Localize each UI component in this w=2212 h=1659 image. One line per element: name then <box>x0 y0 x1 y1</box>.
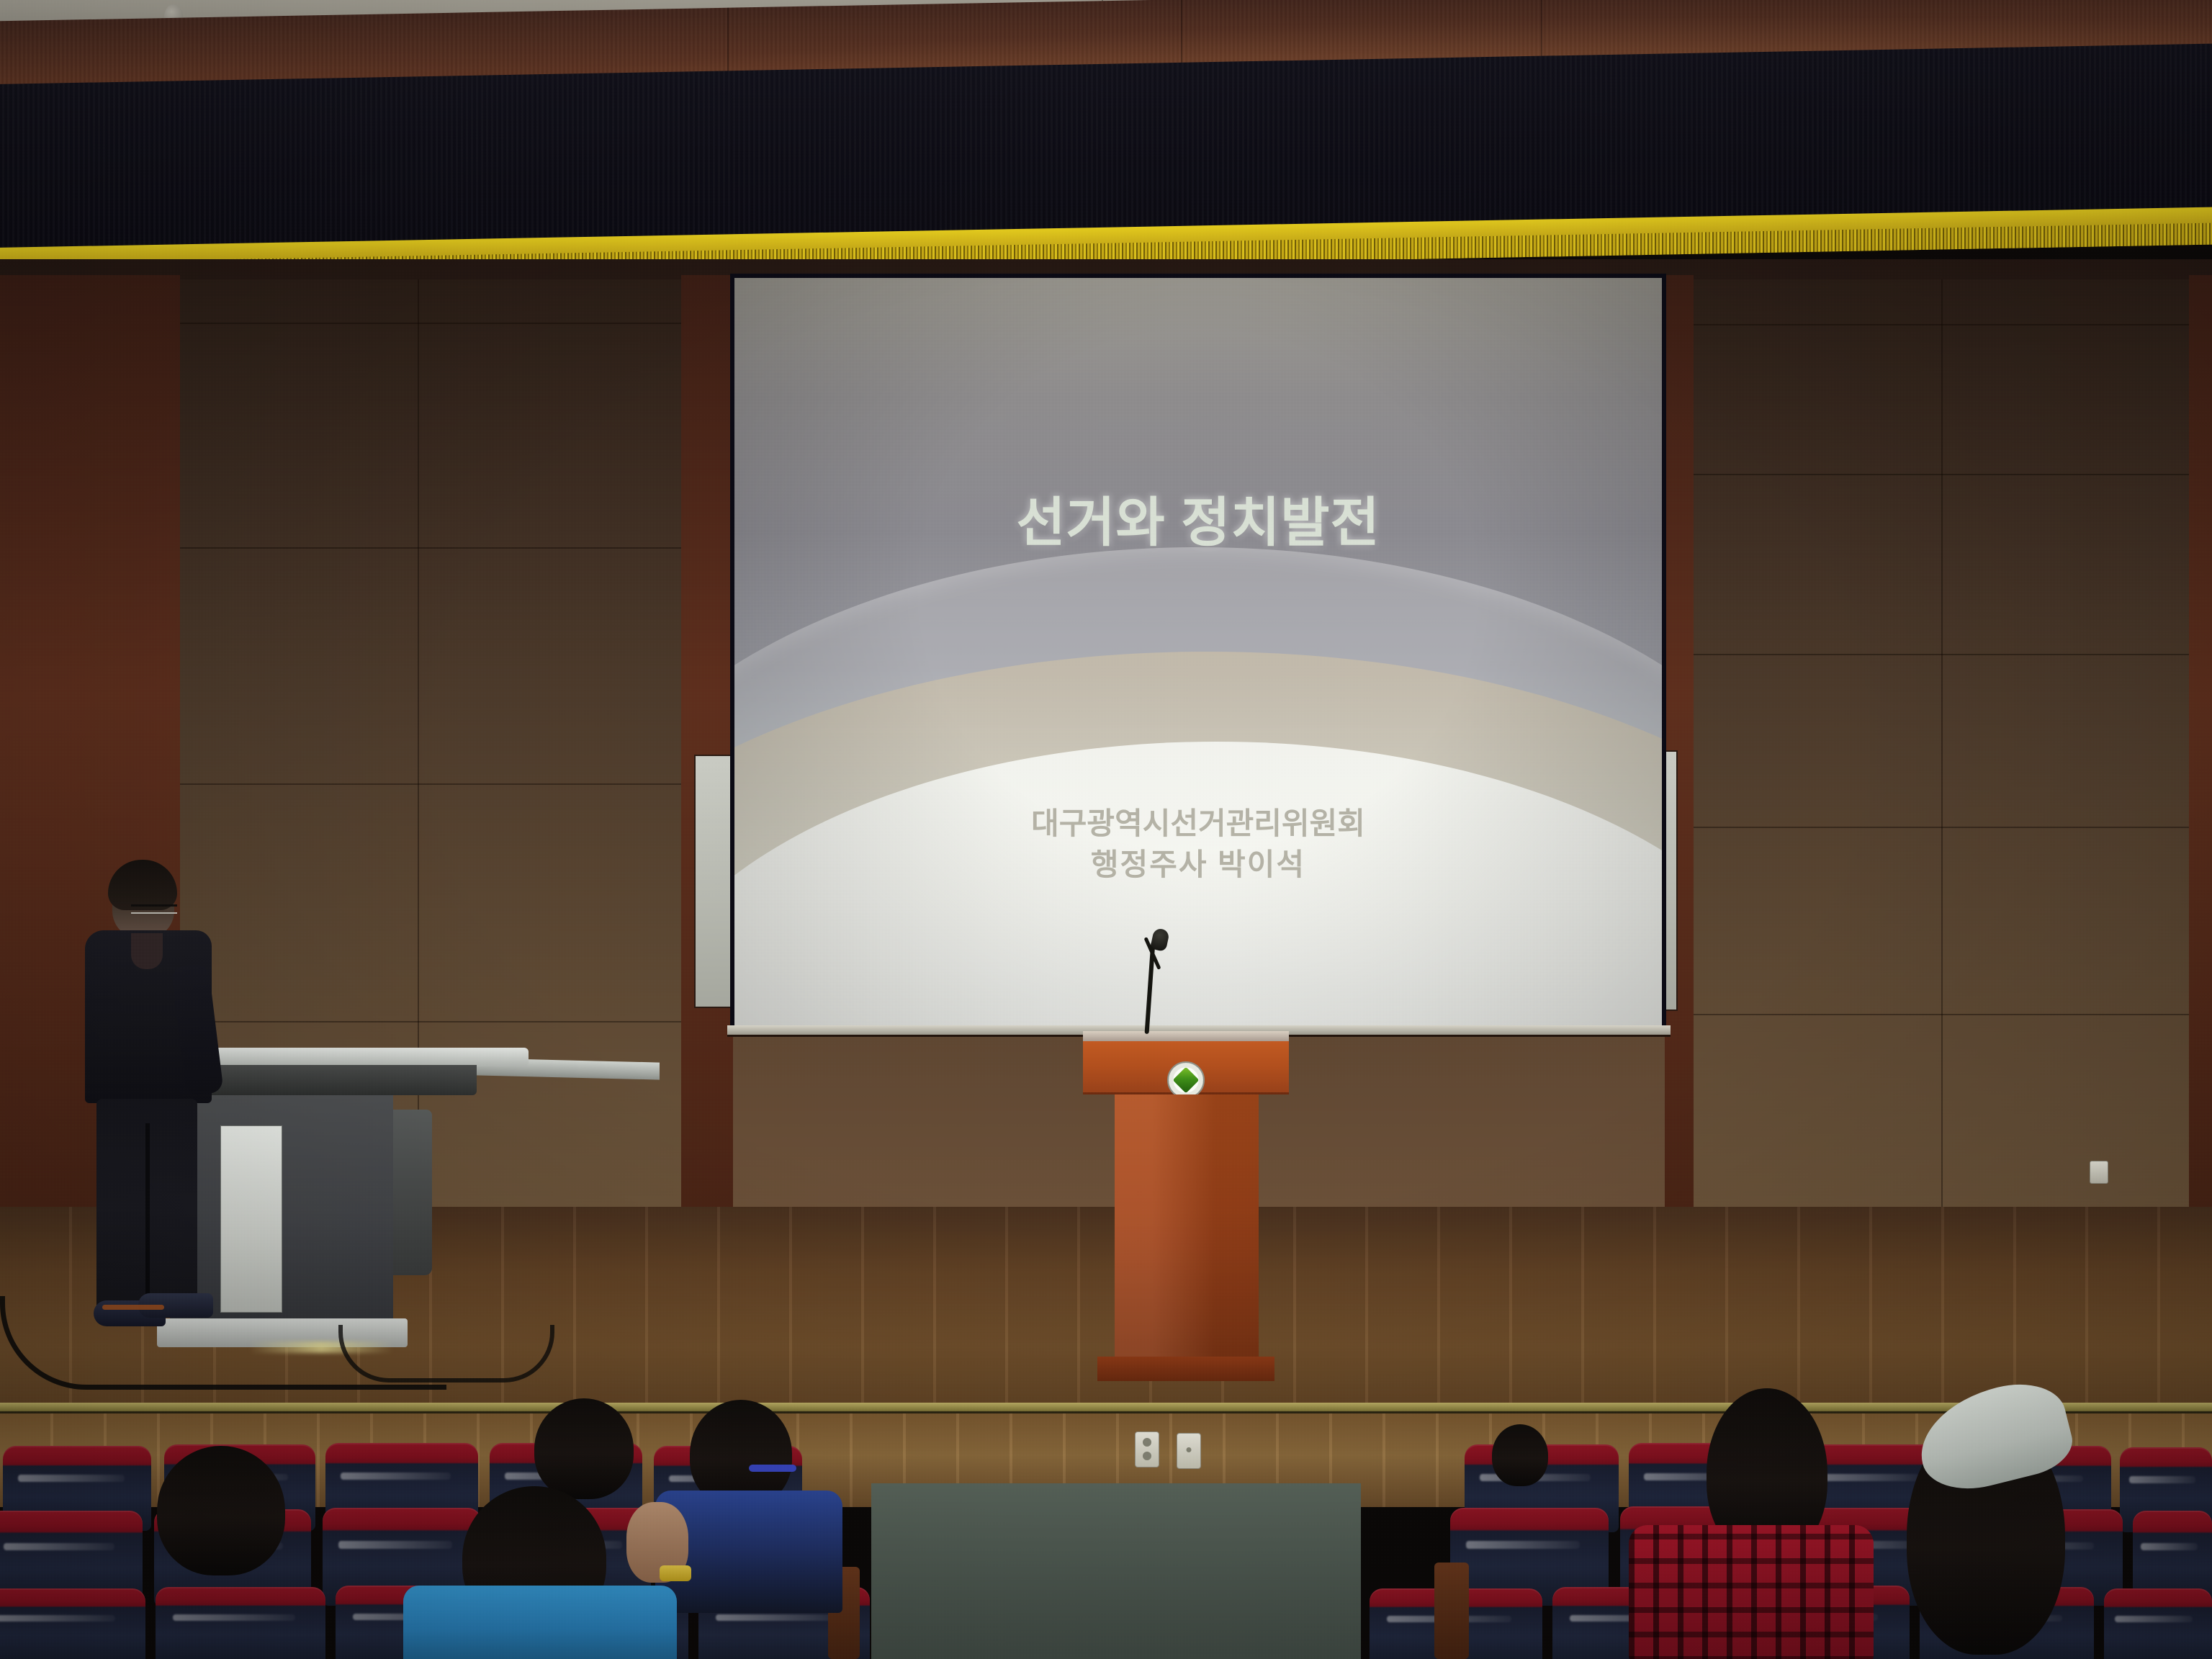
slide-subtitle: 대구광역시선거관리위원회 행정주사 박이석 <box>734 804 1662 885</box>
side-wall-outlet[interactable] <box>2090 1161 2108 1184</box>
slide-subtitle-line2: 행정주사 박이석 <box>734 845 1662 886</box>
presenter-hair <box>108 860 177 910</box>
console-side-panel <box>392 1110 432 1275</box>
presenter-collar <box>131 933 163 969</box>
seat[interactable] <box>0 1588 145 1659</box>
podium-front-header <box>1083 1041 1289 1094</box>
glasses-icon <box>749 1465 796 1472</box>
podium <box>1093 1031 1279 1384</box>
wall-pier-left <box>681 275 733 1211</box>
floor-cable-secondary <box>338 1325 554 1382</box>
auditorium-photo: 선거와 정치발전 대구광역시선거관리위원회 행정주사 박이석 <box>0 0 2212 1659</box>
wall-pier-right <box>1665 275 1694 1211</box>
wall-pier-far-right <box>2189 275 2212 1211</box>
console-front-panel <box>220 1125 282 1313</box>
aisle-armrest-right <box>1434 1563 1469 1659</box>
whiteboard-strip-left <box>694 755 734 1008</box>
audience-body <box>1629 1525 1874 1659</box>
presenter-at-console <box>78 864 222 1361</box>
audience-head <box>534 1398 634 1499</box>
podium-column <box>1115 1094 1259 1359</box>
audience-head <box>157 1446 285 1575</box>
slide-title: 선거와 정치발전 <box>734 480 1662 557</box>
projection-screen: 선거와 정치발전 대구광역시선거관리위원회 행정주사 박이석 <box>730 274 1666 1030</box>
projected-slide: 선거와 정치발전 대구광역시선거관리위원회 행정주사 박이석 <box>734 278 1662 1025</box>
audience-body <box>403 1586 677 1659</box>
seat[interactable] <box>2104 1588 2212 1659</box>
seat[interactable] <box>156 1587 325 1659</box>
center-aisle-floor <box>871 1483 1361 1659</box>
slide-subtitle-line1: 대구광역시선거관리위원회 <box>1031 806 1365 840</box>
wristband <box>660 1565 691 1581</box>
glasses-icon <box>131 904 177 914</box>
emblem-leaf-shape <box>1173 1067 1200 1094</box>
wall-acoustic-panel-right <box>1691 279 2195 1208</box>
audience-seating-area <box>0 1433 2212 1659</box>
slide-vignette <box>734 278 1662 1025</box>
presenter-leg-gap <box>145 1123 150 1303</box>
podium-base <box>1097 1357 1274 1381</box>
election-commission-emblem-icon <box>1167 1061 1205 1099</box>
audience-head <box>1492 1424 1548 1486</box>
